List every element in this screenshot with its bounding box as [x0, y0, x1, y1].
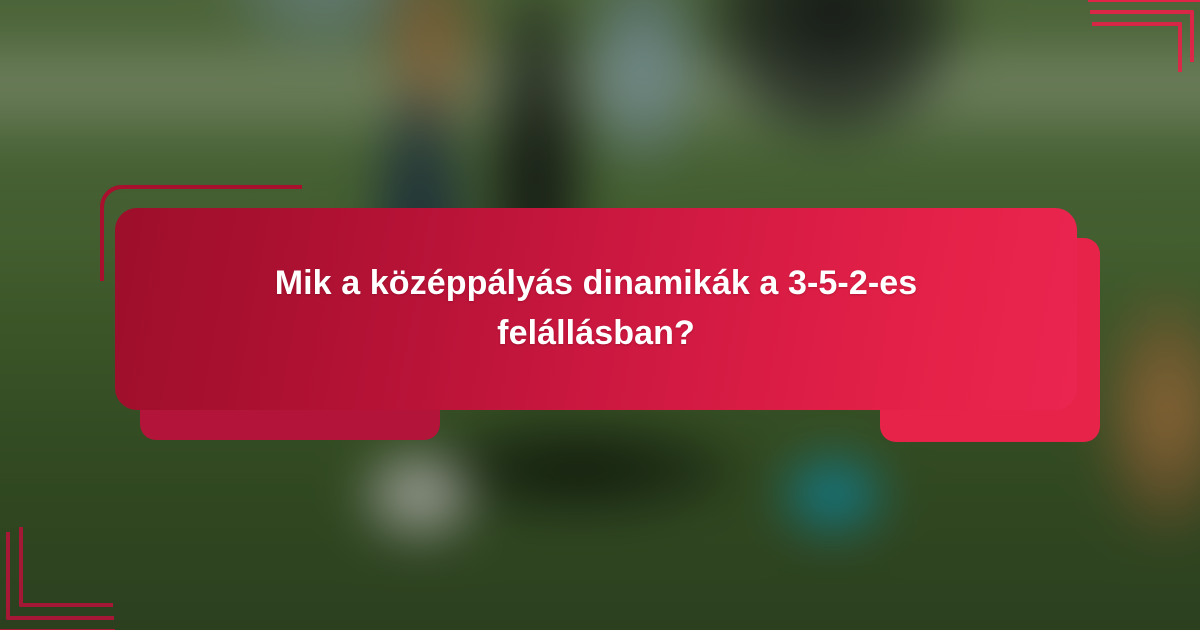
card-title: Mik a középpályás dinamikák a 3-5-2-es f…: [196, 259, 996, 358]
headline-card: Mik a középpályás dinamikák a 3-5-2-es f…: [115, 208, 1077, 410]
social-card-canvas: Mik a középpályás dinamikák a 3-5-2-es f…: [0, 0, 1200, 630]
